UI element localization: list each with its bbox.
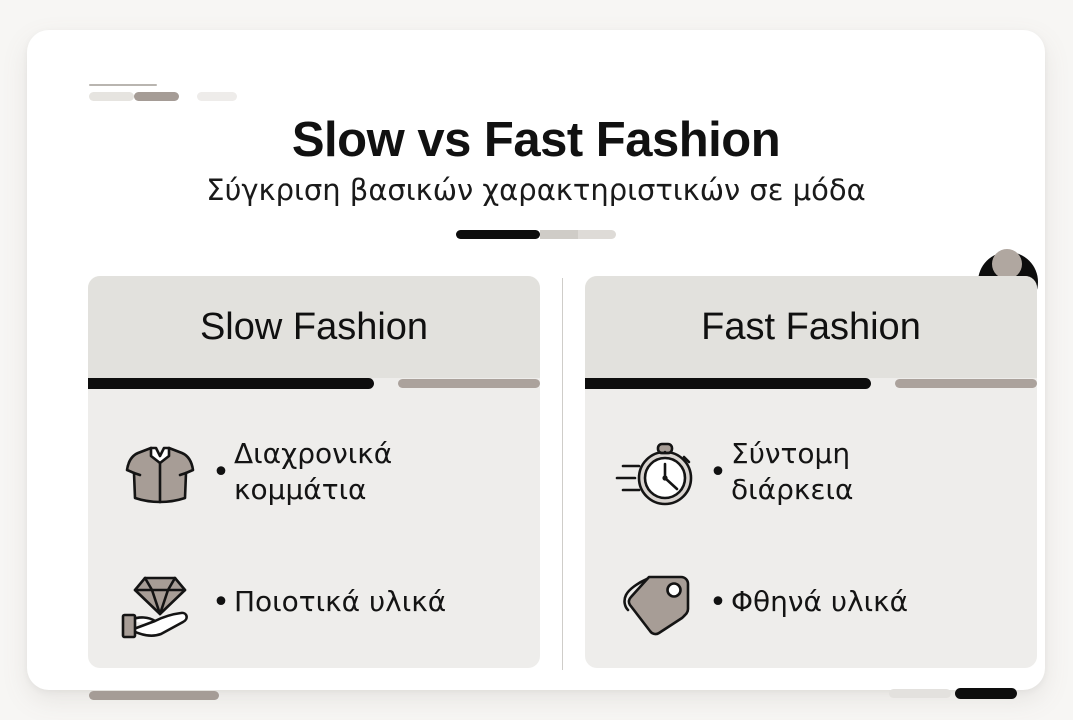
decor-circle-small <box>992 249 1022 279</box>
card-body: • Διαχρονικά κομμάτια • <box>88 389 540 667</box>
feature-label: Φθηνά υλικά <box>731 584 908 620</box>
shirt-icon <box>112 424 208 520</box>
card-header-rule <box>88 378 540 389</box>
feature-label: Σύντομη διάρκεια <box>731 436 981 508</box>
card-header: Fast Fashion <box>585 276 1037 378</box>
decor-bar-light <box>89 92 134 101</box>
page-title: Slow vs Fast Fashion <box>27 112 1045 168</box>
feature-bullet: • <box>208 456 234 488</box>
feature-row: • Ποιοτικά υλικά <box>88 537 540 667</box>
feature-row: • Σύντομη διάρκεια <box>585 407 1037 537</box>
feature-label: Διαχρονικά κομμάτια <box>234 436 484 508</box>
decor-bars-bottom-right <box>889 688 1017 699</box>
feature-bullet: • <box>208 586 234 618</box>
page-subtitle: Σύγκριση βασικών χαρακτηριστικών σε μόδα <box>27 173 1045 207</box>
feature-row: • Φθηνά υλικά <box>585 537 1037 667</box>
stopwatch-icon <box>609 424 705 520</box>
decor-bar-taupe <box>134 92 179 101</box>
card-fast-fashion: Fast Fashion <box>585 276 1037 668</box>
decor-bar-light-2 <box>197 92 237 101</box>
feature-bullet: • <box>705 586 731 618</box>
rule-segment-mid <box>540 230 578 239</box>
price-tag-icon <box>609 554 705 650</box>
card-rule-taupe <box>895 379 1037 388</box>
title-underline-rule <box>456 230 616 239</box>
card-title: Slow Fashion <box>200 306 428 349</box>
card-slow-fashion: Slow Fashion <box>88 276 540 668</box>
decor-bar-bottom-left <box>89 691 219 700</box>
rule-segment-light <box>578 230 616 239</box>
card-header-rule <box>585 378 1037 389</box>
decor-hairline-top-left <box>89 84 157 86</box>
feature-bullet: • <box>705 456 731 488</box>
diamond-in-hand-icon <box>112 554 208 650</box>
card-rule-taupe <box>398 379 540 388</box>
card-body: • Σύντομη διάρκεια • Φθηνά υλικά <box>585 389 1037 667</box>
decor-bar-bottom-light <box>889 689 951 698</box>
feature-label: Ποιοτικά υλικά <box>234 584 446 620</box>
card-divider <box>562 278 563 670</box>
rule-segment-black <box>456 230 540 239</box>
decor-bar-bottom-black <box>955 688 1017 699</box>
feature-row: • Διαχρονικά κομμάτια <box>88 407 540 537</box>
decor-bars-top-left <box>89 92 237 101</box>
card-header: Slow Fashion <box>88 276 540 378</box>
card-rule-black <box>88 378 374 389</box>
card-rule-black <box>585 378 871 389</box>
card-title: Fast Fashion <box>701 306 921 349</box>
slide-sheet: Slow vs Fast Fashion Σύγκριση βασικών χα… <box>27 30 1045 690</box>
